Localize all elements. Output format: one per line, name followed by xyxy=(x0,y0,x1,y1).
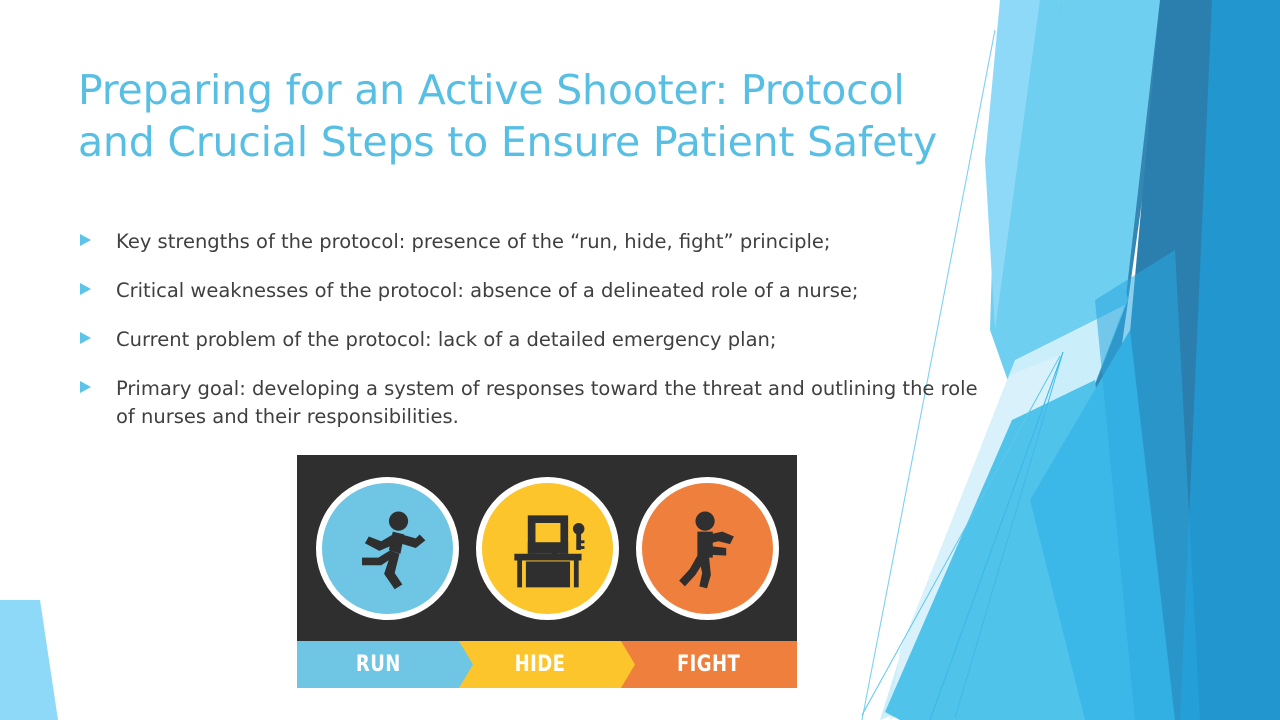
list-item-text: Current problem of the protocol: lack of… xyxy=(116,326,978,355)
fight-circle xyxy=(636,477,779,620)
triangle-right-icon xyxy=(78,228,116,247)
deco-shape-right-dark2 xyxy=(1180,0,1280,720)
running-person-icon xyxy=(339,500,435,596)
triangle-right-icon xyxy=(78,375,116,394)
ribbon-segment-fight: FIGHT xyxy=(621,641,797,688)
infographic-icon-row xyxy=(297,455,797,641)
ribbon-segment-hide: HIDE xyxy=(459,641,635,688)
triangle-right-icon xyxy=(78,326,116,345)
slide: Preparing for an Active Shooter: Protoco… xyxy=(0,0,1280,720)
list-item: Key strengths of the protocol: presence … xyxy=(78,228,978,257)
run-circle xyxy=(316,477,459,620)
ribbon-label-run: RUN xyxy=(356,652,401,677)
ribbon-label-hide: HIDE xyxy=(515,652,566,677)
deco-shape-sky-top xyxy=(990,0,1128,500)
list-item-text: Primary goal: developing a system of res… xyxy=(116,375,978,433)
door-desk-key-icon xyxy=(499,500,595,596)
infographic-ribbon: RUN HIDE FIGHT xyxy=(297,641,797,688)
deco-shape-lower-sky-3 xyxy=(1095,250,1200,720)
deco-shape-right-dark xyxy=(1095,0,1280,720)
ribbon-segment-run: RUN xyxy=(297,641,473,688)
run-hide-fight-infographic: RUN HIDE FIGHT xyxy=(297,455,797,688)
list-item: Current problem of the protocol: lack of… xyxy=(78,326,978,355)
list-item-text: Critical weaknesses of the protocol: abs… xyxy=(116,277,978,306)
triangle-right-icon xyxy=(78,277,116,296)
deco-shape-lower-sky-2 xyxy=(1030,330,1175,720)
list-item: Primary goal: developing a system of res… xyxy=(78,375,978,433)
deco-shape-sky-top-b xyxy=(1035,0,1160,305)
ribbon-label-fight: FIGHT xyxy=(677,652,740,677)
deco-shape-sky-top-c xyxy=(985,0,1040,330)
deco-shape-bottom-left xyxy=(0,600,58,720)
list-item: Critical weaknesses of the protocol: abs… xyxy=(78,277,978,306)
hide-circle xyxy=(476,477,619,620)
list-item-text: Key strengths of the protocol: presence … xyxy=(116,228,978,257)
bullet-list: Key strengths of the protocol: presence … xyxy=(78,228,978,432)
title-block: Preparing for an Active Shooter: Protoco… xyxy=(78,64,968,168)
fighting-person-icon xyxy=(659,500,755,596)
page-title: Preparing for an Active Shooter: Protoco… xyxy=(78,64,968,168)
